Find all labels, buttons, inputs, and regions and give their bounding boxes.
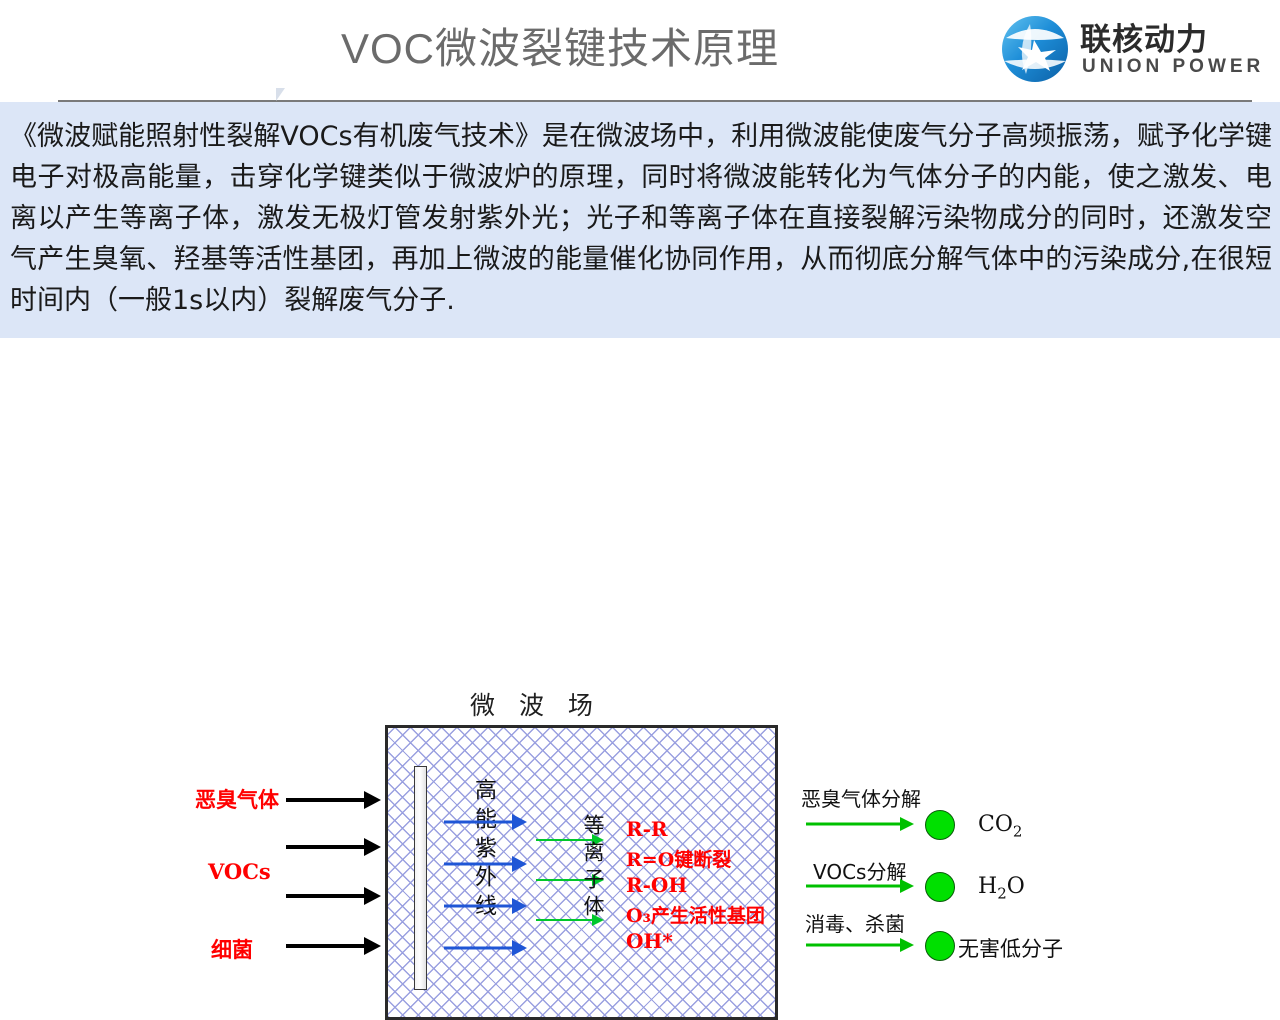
plasma-column-label: 等离子体 bbox=[578, 814, 608, 952]
product-co2-main: CO bbox=[978, 812, 1013, 837]
page-title: VOC微波裂键技术原理 bbox=[250, 22, 870, 76]
input-label-odor-gas: 恶臭气体 bbox=[195, 784, 279, 814]
output-dot-2 bbox=[925, 872, 955, 902]
output-label-vocs-decomposition: VOCs分解 bbox=[813, 856, 906, 885]
output-dot-1 bbox=[925, 810, 955, 840]
product-co2: CO2 bbox=[978, 812, 1022, 840]
title-flag-marker bbox=[276, 88, 285, 101]
slide-header: VOC微波裂键技术原理 bbox=[0, 0, 1280, 100]
reaction-line-4: O₃产生活性基团 bbox=[626, 901, 765, 928]
logo-cn-text: 联核动力 bbox=[1080, 14, 1208, 59]
reaction-line-2: R=O键断裂 bbox=[626, 845, 731, 872]
product-h2o-h: H bbox=[978, 874, 997, 899]
input-label-bacteria: 细菌 bbox=[211, 934, 253, 964]
slide-root: VOC微波裂键技术原理 bbox=[0, 0, 1280, 720]
input-label-vocs: VOCs bbox=[208, 859, 271, 884]
process-diagram: 微 波 场 恶臭气体 VOCs 细菌 高能紫外线 bbox=[0, 338, 1280, 720]
output-dot-3 bbox=[925, 931, 955, 961]
company-logo: 联核动力 UNION POWER bbox=[1000, 12, 1262, 88]
product-h2o-o: O bbox=[1007, 874, 1025, 899]
logo-en-text: UNION POWER bbox=[1082, 56, 1264, 78]
reaction-line-3: R-OH bbox=[626, 873, 687, 897]
reaction-line-1: R-R bbox=[626, 817, 668, 841]
output-label-odor-decomposition: 恶臭气体分解 bbox=[801, 783, 921, 812]
globe-icon bbox=[1000, 14, 1070, 84]
diagram-white-band bbox=[188, 676, 1060, 706]
description-paragraph: 《微波赋能照射性裂解VOCs有机废气技术》是在微波场中，利用微波能使废气分子高频… bbox=[10, 116, 1272, 321]
description-band: 《微波赋能照射性裂解VOCs有机废气技术》是在微波场中，利用微波能使废气分子高频… bbox=[0, 102, 1280, 340]
microwave-field-caption: 微 波 场 bbox=[470, 686, 601, 722]
product-h2o: H2O bbox=[978, 874, 1025, 902]
reaction-line-5: OH* bbox=[626, 929, 673, 953]
uv-lamp-tube-icon bbox=[414, 766, 427, 990]
uv-column-label: 高能紫外线 bbox=[467, 778, 499, 990]
product-co2-subscript: 2 bbox=[1013, 822, 1023, 840]
product-h2o-subscript: 2 bbox=[997, 884, 1007, 902]
product-harmless-molecules: 无害低分子 bbox=[958, 933, 1063, 963]
output-label-sterilization: 消毒、杀菌 bbox=[805, 908, 905, 937]
